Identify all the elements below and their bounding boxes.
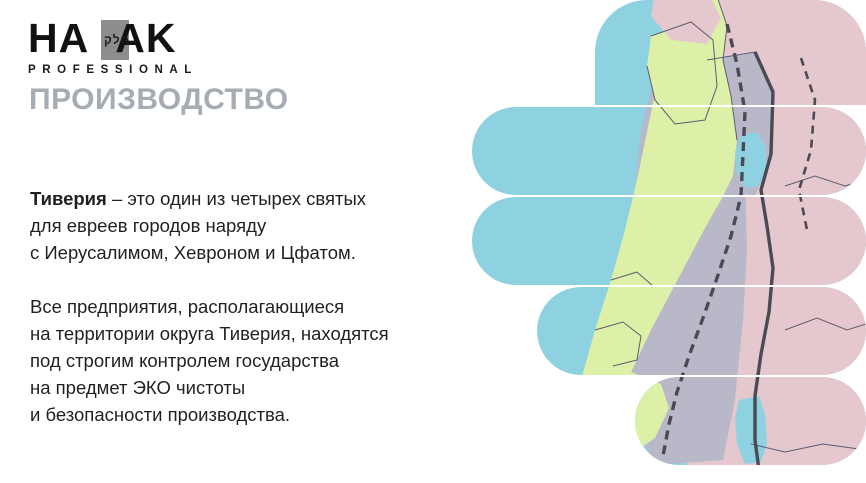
map-band-3-clip xyxy=(455,197,866,285)
slide-root: HALAK חלק PROFESSIONAL ПРОИЗВОДСТВО Тиве… xyxy=(0,0,866,483)
map-panel: Эгейское море Тиверия xyxy=(455,0,866,483)
map-band-5 xyxy=(455,377,866,465)
map-band-4 xyxy=(455,287,866,375)
map-band-4-clip xyxy=(455,287,866,375)
map-band-2 xyxy=(455,107,866,195)
paragraph-2: Все предприятия, располагающиесяна терри… xyxy=(30,293,480,428)
map-geometry-2 xyxy=(455,107,866,195)
map-band-2-clip xyxy=(455,107,866,195)
logo-hebrew-text: חלק xyxy=(104,34,128,46)
brand-logo: HALAK חלק PROFESSIONAL xyxy=(28,18,238,76)
logo-tagline: PROFESSIONAL xyxy=(28,64,238,76)
map-geometry-3 xyxy=(455,197,866,285)
logo-word-left: HA xyxy=(28,15,89,61)
paragraph-2-text: Все предприятия, располагающиесяна терри… xyxy=(30,296,389,425)
map-geometry-1 xyxy=(455,0,866,105)
map-band-5-clip xyxy=(455,377,866,465)
map-band-1-clip xyxy=(455,0,866,105)
body-copy: Тиверия – это один из четырех святыхдля … xyxy=(30,185,480,428)
map-band-3 xyxy=(455,197,866,285)
map-band-1 xyxy=(455,0,866,105)
map-geometry-4 xyxy=(455,287,866,375)
map-geometry-5 xyxy=(455,377,866,465)
page-title: ПРОИЗВОДСТВО xyxy=(29,83,289,117)
logo-wordmark: HALAK חלק xyxy=(28,18,238,60)
paragraph-1: Тиверия – это один из четырех святыхдля … xyxy=(30,185,480,266)
paragraph-1-lead: Тиверия xyxy=(30,188,107,209)
